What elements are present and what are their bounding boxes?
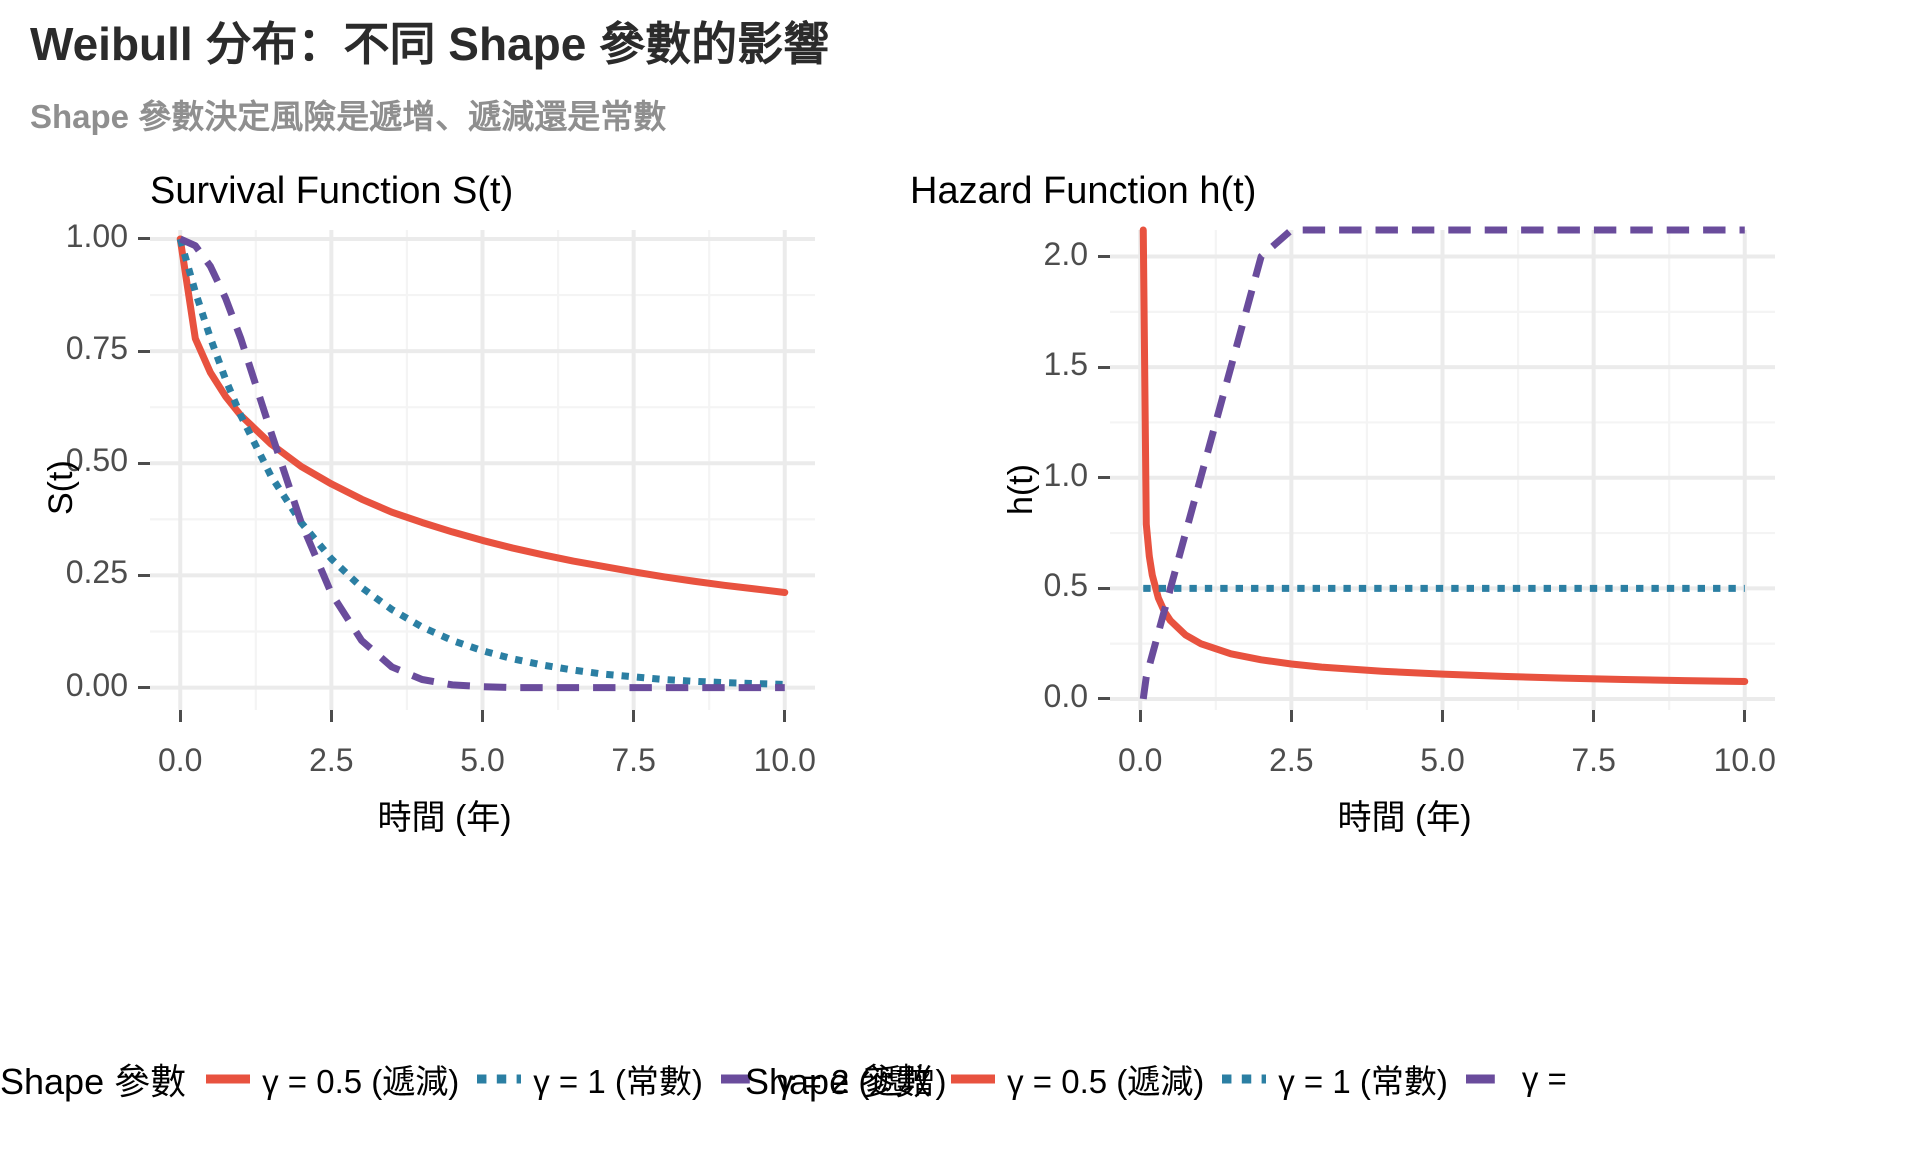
x-tick-mark (330, 710, 333, 722)
y-tick-label: 0.00 (0, 667, 128, 704)
legend-key-dotted-icon (1220, 1062, 1268, 1096)
x-tick-mark (179, 710, 182, 722)
legend-key-dashed-icon (1464, 1062, 1512, 1096)
x-axis-label-survival: 時間 (年) (378, 790, 512, 839)
legend-item-label: γ = 0.5 (遞減) (1007, 1055, 1204, 1103)
legend-title: Shape 參數 (745, 1053, 931, 1105)
x-tick-mark (1441, 710, 1444, 722)
legend-item[interactable]: γ = 1 (常數) (475, 1055, 703, 1103)
x-tick-label: 7.5 (574, 742, 694, 779)
legend-container: Shape 參數γ = 0.5 (遞減)γ = 1 (常數)γ = 2 (遞增)… (0, 1044, 1920, 1114)
y-tick-label: 0.75 (0, 330, 128, 367)
legend-item[interactable]: γ = 0.5 (遞減) (204, 1055, 459, 1103)
y-tick-label: 2.0 (918, 236, 1088, 273)
page-subtitle: Shape 參數決定風險是遞增、遞減還是常數 (30, 90, 666, 138)
legend-item[interactable]: γ = 1 (常數) (1220, 1055, 1448, 1103)
legend-item-label: γ = 0.5 (遞減) (262, 1055, 459, 1103)
legend-title: Shape 參數 (0, 1053, 186, 1105)
x-tick-mark (1592, 710, 1595, 722)
y-tick-label: 1.5 (918, 346, 1088, 383)
x-tick-mark (1290, 710, 1293, 722)
chart-page: Weibull 分布：不同 Shape 參數的影響 Shape 參數決定風險是遞… (0, 0, 1920, 1152)
x-tick-mark (481, 710, 484, 722)
legend-item-label: γ = 1 (常數) (533, 1055, 703, 1103)
x-tick-label: 7.5 (1534, 742, 1654, 779)
panel-survival: Survival Function S(t) 0.000.250.500.751… (0, 150, 960, 1010)
plot-area-survival: 0.000.250.500.751.000.02.55.07.510.0 (150, 230, 815, 710)
y-tick-label: 0.0 (918, 678, 1088, 715)
legend-item-label: γ = (1522, 1060, 1567, 1098)
y-tick-mark (1098, 697, 1110, 700)
y-axis-label-hazard: h(t) (1002, 464, 1041, 515)
y-tick-label: 0.25 (0, 554, 128, 591)
x-tick-label: 5.0 (1383, 742, 1503, 779)
y-tick-mark (138, 574, 150, 577)
legend-item[interactable]: γ = 0.5 (遞減) (949, 1055, 1204, 1103)
panels-container: Survival Function S(t) 0.000.250.500.751… (0, 150, 1920, 1010)
legend-key-solid-icon (949, 1062, 997, 1096)
y-tick-mark (1098, 255, 1110, 258)
y-tick-mark (138, 686, 150, 689)
x-tick-label: 0.0 (120, 742, 240, 779)
x-tick-label: 10.0 (725, 742, 845, 779)
x-axis-label-hazard: 時間 (年) (1338, 790, 1472, 839)
x-tick-mark (783, 710, 786, 722)
y-tick-mark (138, 237, 150, 240)
x-tick-label: 0.0 (1080, 742, 1200, 779)
x-tick-label: 10.0 (1685, 742, 1805, 779)
x-tick-label: 2.5 (271, 742, 391, 779)
y-tick-mark (1098, 587, 1110, 590)
legend-hazard: Shape 參數γ = 0.5 (遞減)γ = 1 (常數)γ = (745, 1044, 1583, 1114)
x-tick-label: 2.5 (1231, 742, 1351, 779)
legend-item-label: γ = 1 (常數) (1278, 1055, 1448, 1103)
legend-key-dotted-icon (475, 1062, 523, 1096)
hazard-plot-svg (1110, 230, 1775, 710)
legend-key-solid-icon (204, 1062, 252, 1096)
plot-area-hazard: 0.00.51.01.52.00.02.55.07.510.0 (1110, 230, 1775, 710)
x-tick-mark (632, 710, 635, 722)
legend-item[interactable]: γ = (1464, 1060, 1567, 1098)
y-tick-label: 1.00 (0, 218, 128, 255)
panel-hazard: Hazard Function h(t) 0.00.51.01.52.00.02… (960, 150, 1920, 1010)
y-tick-mark (1098, 366, 1110, 369)
page-title: Weibull 分布：不同 Shape 參數的影響 (30, 8, 829, 74)
y-tick-mark (138, 350, 150, 353)
y-tick-mark (138, 462, 150, 465)
panel-title-hazard: Hazard Function h(t) (910, 170, 1870, 213)
y-tick-label: 0.5 (918, 567, 1088, 604)
x-tick-label: 5.0 (423, 742, 543, 779)
survival-plot-svg (150, 230, 815, 710)
x-tick-mark (1743, 710, 1746, 722)
y-axis-label-survival: S(t) (42, 460, 81, 515)
y-tick-mark (1098, 476, 1110, 479)
x-tick-mark (1139, 710, 1142, 722)
